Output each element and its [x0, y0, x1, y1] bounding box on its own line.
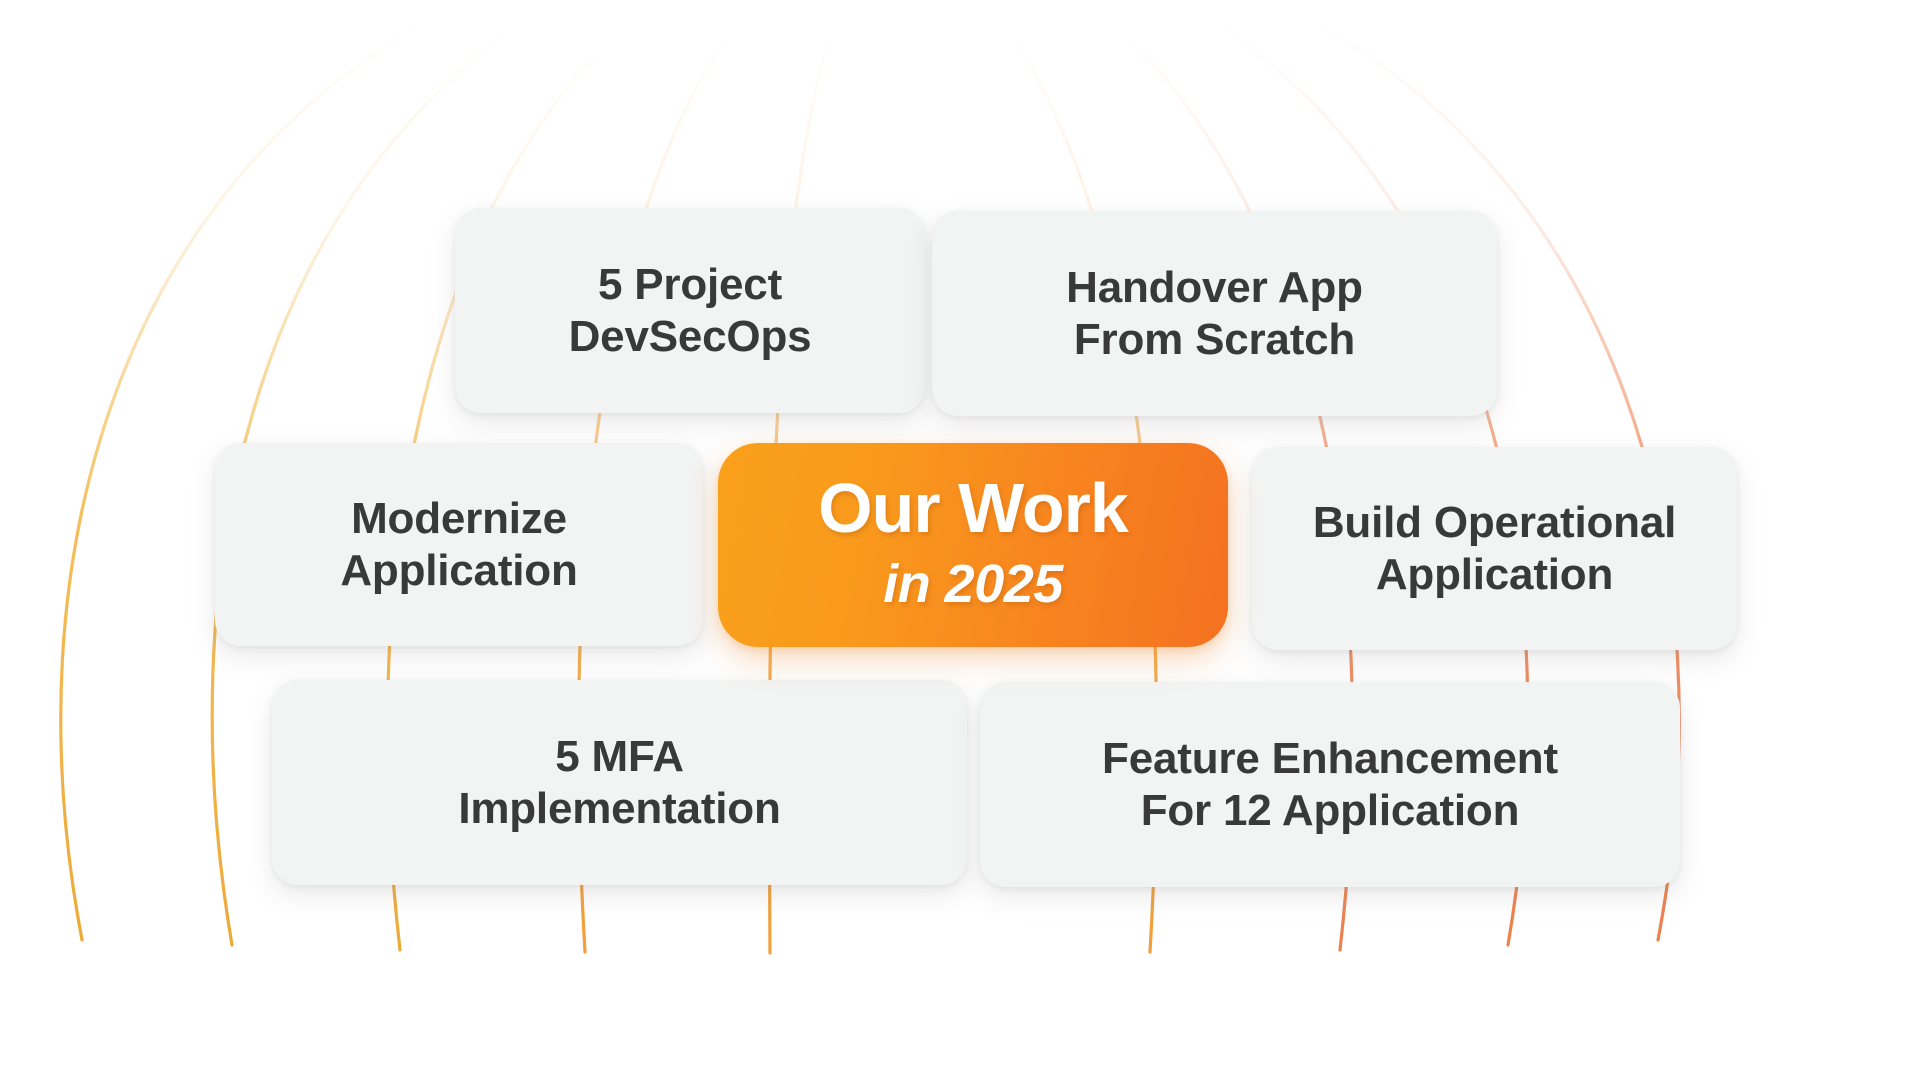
card-handover[interactable]: Handover App From Scratch — [932, 211, 1497, 416]
card-mfa[interactable]: 5 MFA Implementation — [272, 680, 967, 885]
card-build-operational-text: Build Operational Application — [1313, 497, 1676, 599]
card-mfa-line1: 5 MFA — [458, 731, 780, 782]
card-devsecops[interactable]: 5 Project DevSecOps — [455, 208, 925, 413]
card-devsecops-text: 5 Project DevSecOps — [569, 259, 812, 361]
badge-subtitle: in 2025 — [883, 557, 1063, 611]
our-work-badge[interactable]: Our Work in 2025 — [718, 443, 1228, 647]
card-feature-enhancement-text: Feature Enhancement For 12 Application — [1102, 733, 1558, 835]
card-feature-enhancement-line2: For 12 Application — [1102, 785, 1558, 836]
card-modernize-text: Modernize Application — [340, 493, 577, 595]
card-feature-enhancement-line1: Feature Enhancement — [1102, 733, 1558, 784]
card-build-operational[interactable]: Build Operational Application — [1252, 447, 1737, 650]
card-handover-line1: Handover App — [1066, 262, 1363, 313]
card-mfa-line2: Implementation — [458, 783, 780, 834]
card-mfa-text: 5 MFA Implementation — [458, 731, 780, 833]
card-devsecops-line1: 5 Project — [569, 259, 812, 310]
card-handover-text: Handover App From Scratch — [1066, 262, 1363, 364]
card-modernize[interactable]: Modernize Application — [215, 443, 703, 646]
card-devsecops-line2: DevSecOps — [569, 311, 812, 362]
card-modernize-line2: Application — [340, 545, 577, 596]
badge-title: Our Work — [818, 473, 1128, 543]
card-feature-enhancement[interactable]: Feature Enhancement For 12 Application — [980, 682, 1680, 887]
card-build-operational-line2: Application — [1313, 549, 1676, 600]
card-modernize-line1: Modernize — [340, 493, 577, 544]
card-handover-line2: From Scratch — [1066, 314, 1363, 365]
card-build-operational-line1: Build Operational — [1313, 497, 1676, 548]
infographic-canvas: 5 Project DevSecOps Handover App From Sc… — [0, 0, 1921, 1080]
